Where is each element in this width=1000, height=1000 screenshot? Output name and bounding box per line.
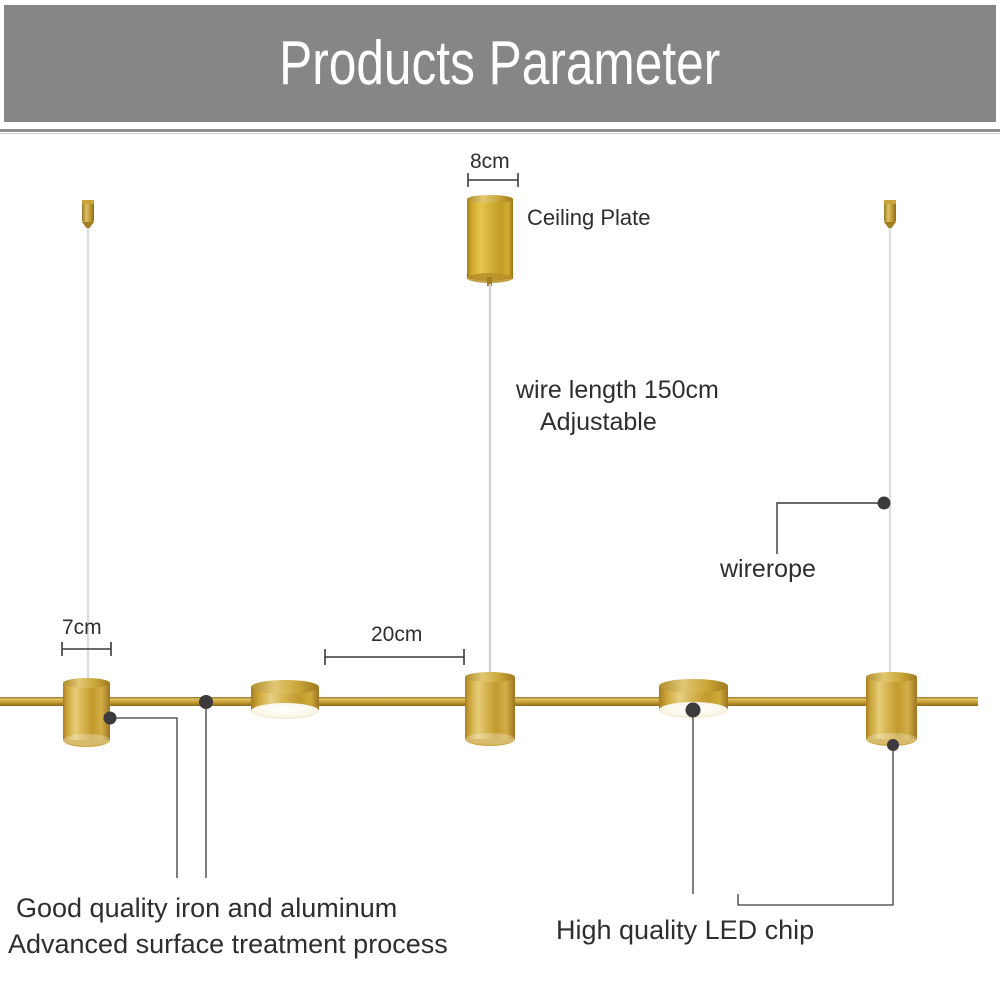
ceiling-plate-graphic	[467, 195, 513, 286]
page-title: Products Parameter	[279, 33, 720, 95]
led-callout-leader-b	[738, 739, 899, 905]
dimension-8cm-line	[468, 173, 518, 187]
wirerope-callout-leader	[777, 497, 891, 555]
led-callout-leader-a	[686, 703, 701, 895]
lamp-head-2	[251, 680, 319, 719]
dimension-label-20cm: 20cm	[371, 623, 422, 647]
led-chip-label: High quality LED chip	[556, 915, 814, 946]
lamp-head-5	[866, 672, 917, 746]
lamp-head-1	[63, 678, 110, 747]
header-banner: Products Parameter	[4, 5, 996, 122]
product-diagram: 8cm Ceiling Plate wire length 150cm Adju…	[0, 136, 1000, 1000]
header-divider	[0, 129, 1000, 132]
dimension-label-7cm: 7cm	[62, 616, 102, 640]
lamp-head-3	[465, 672, 515, 746]
material-callout-leader-a	[104, 712, 178, 879]
material-label-line2: Advanced surface treatment process	[8, 929, 448, 960]
ceiling-plate-label: Ceiling Plate	[527, 205, 651, 231]
left-hanging-wire	[82, 200, 94, 688]
material-label-line1: Good quality iron and aluminum	[16, 893, 397, 924]
wirerope-label: wirerope	[720, 555, 816, 584]
dimension-20cm-line	[325, 649, 464, 665]
dimension-7cm-line	[62, 642, 111, 656]
wire-length-label: wire length 150cm	[516, 376, 719, 405]
dimension-label-8cm: 8cm	[470, 150, 510, 174]
header-divider-secondary	[0, 133, 1000, 134]
wire-adjustable-label: Adjustable	[540, 408, 657, 437]
material-callout-leader-b	[199, 695, 213, 878]
product-parameter-page: Products Parameter	[0, 0, 1000, 1000]
right-hanging-wire	[884, 200, 896, 676]
